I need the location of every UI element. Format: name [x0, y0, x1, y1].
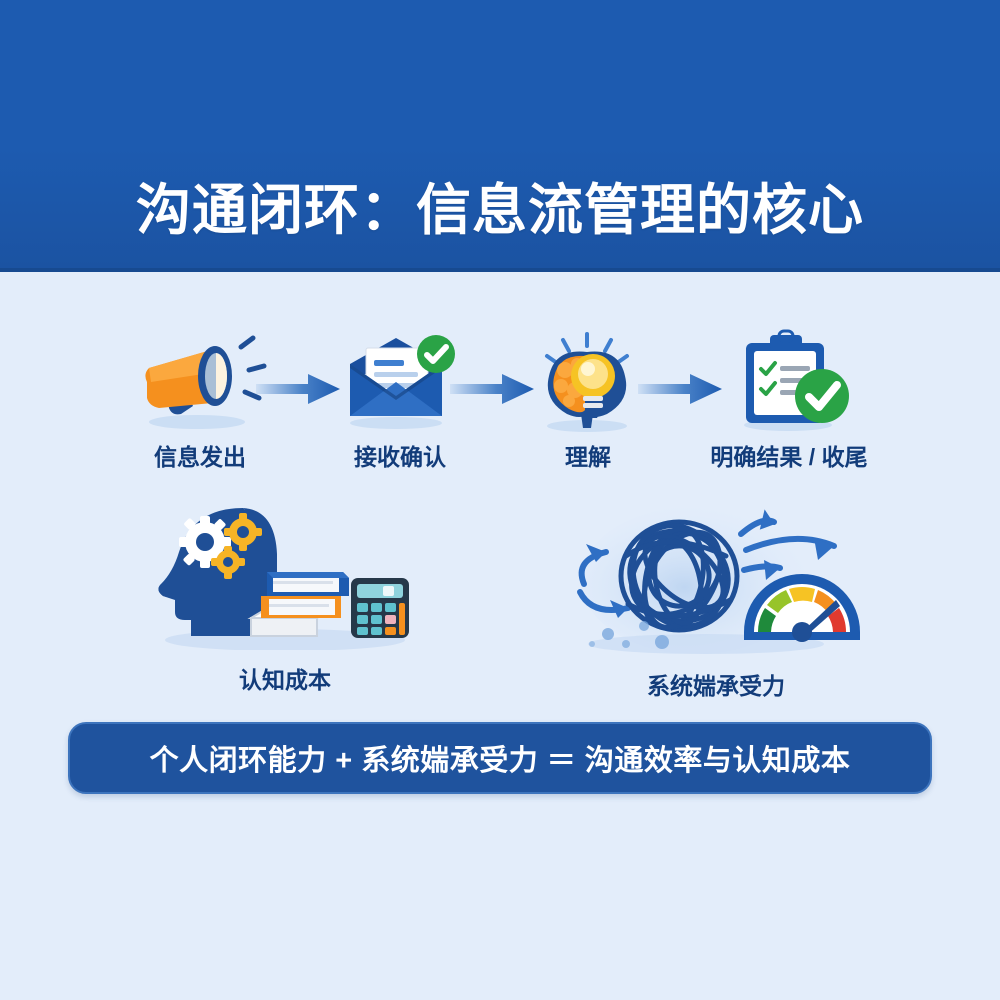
- process-flow: 信息发出: [120, 330, 880, 490]
- summary-banner-text: 个人闭环能力 + 系统媏承受力 ＝ 沟通效率与认知成本: [150, 737, 851, 779]
- clipboard-check-icon: [698, 330, 880, 430]
- lower-illustrations: 认知成本: [0, 500, 1000, 700]
- tangle-gauge-icon: [566, 494, 866, 661]
- header-band: 沟通闭环：信息流管理的核心: [0, 0, 1000, 272]
- lower-item-1-label: 认知成本: [140, 661, 430, 695]
- infographic-canvas: 沟通闭环：信息流管理的核心: [0, 0, 1000, 1000]
- page-title: 沟通闭环：信息流管理的核心: [136, 183, 864, 268]
- head-gears-books-calculator-icon: [140, 500, 430, 655]
- summary-banner[interactable]: 个人闭环能力 + 系统媏承受力 ＝ 沟通效率与认知成本: [68, 722, 932, 794]
- flow-step-4-label: 明确结果 / 收尾: [698, 438, 880, 472]
- flow-step-1-label: 信息发出: [120, 438, 280, 472]
- lower-item-2-label: 系统媏承受力: [566, 667, 866, 701]
- flow-step-2-label: 接收确认: [320, 438, 480, 472]
- brain-lightbulb-icon: [518, 330, 658, 430]
- flow-step-3[interactable]: 理解: [518, 330, 658, 472]
- lower-item-1[interactable]: 认知成本: [140, 500, 430, 695]
- lower-item-2[interactable]: 系统媏承受力: [566, 494, 866, 701]
- flow-step-4[interactable]: 明确结果 / 收尾: [698, 330, 880, 472]
- flow-step-3-label: 理解: [518, 438, 658, 472]
